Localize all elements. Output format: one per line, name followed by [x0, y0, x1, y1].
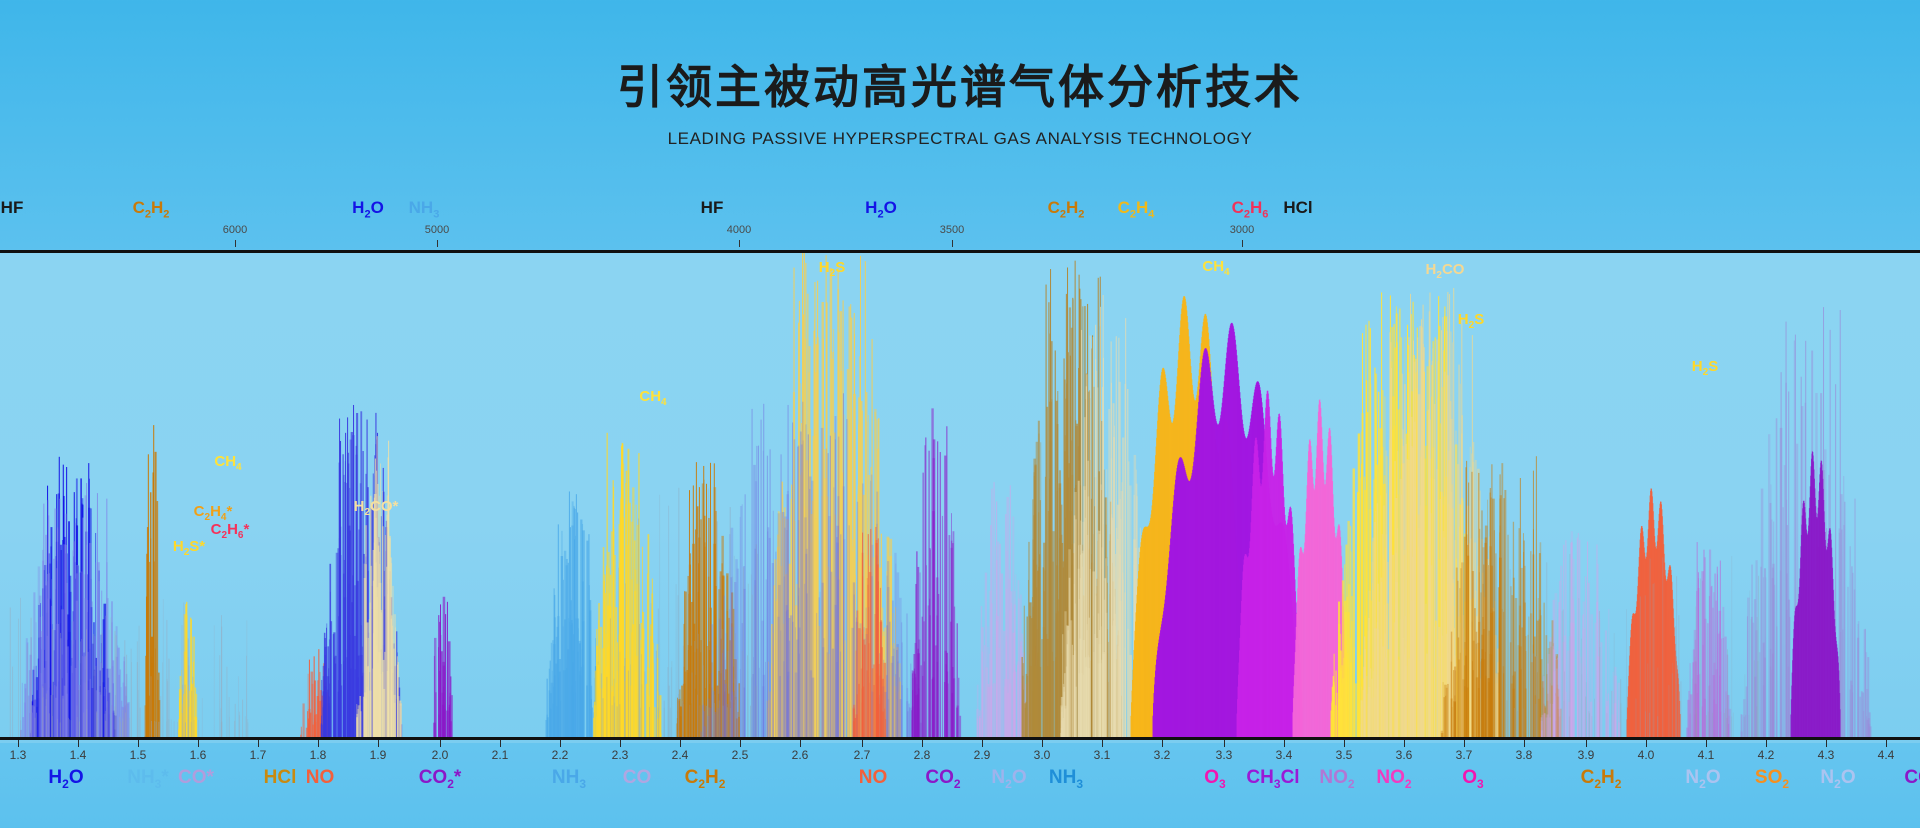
- page-title: 引领主被动高光谱气体分析技术: [0, 0, 1920, 113]
- top-gas-label: C2H6: [1232, 198, 1269, 220]
- bottom-tick-mark: [1586, 740, 1587, 747]
- top-tick-mark: [437, 240, 438, 247]
- bottom-tick-mark: [680, 740, 681, 747]
- top-gas-label: C2H4: [1118, 198, 1155, 220]
- bottom-tick-label: 2.8: [914, 748, 931, 762]
- bottom-tick-mark: [258, 740, 259, 747]
- page-subtitle: LEADING PASSIVE HYPERSPECTRAL GAS ANALYS…: [0, 113, 1920, 149]
- bottom-tick-mark: [800, 740, 801, 747]
- bottom-tick-label: 1.5: [130, 748, 147, 762]
- top-gas-label: HF: [1, 198, 24, 218]
- bottom-tick-mark: [922, 740, 923, 747]
- top-gas-label: C2H2: [133, 198, 170, 220]
- bottom-tick-label: 2.0: [432, 748, 449, 762]
- bottom-tick-label: 4.0: [1638, 748, 1655, 762]
- bottom-tick-mark: [862, 740, 863, 747]
- bottom-gas-label: NO: [306, 767, 335, 789]
- bottom-tick-label: 3.6: [1396, 748, 1413, 762]
- bottom-gas-label: CO*: [178, 767, 214, 789]
- bottom-tick-label: 1.9: [370, 748, 387, 762]
- top-tick-label: 6000: [223, 224, 247, 236]
- bottom-tick-mark: [500, 740, 501, 747]
- bottom-tick-label: 2.5: [732, 748, 749, 762]
- bottom-axis-band: 1.31.41.51.61.71.81.92.02.12.22.32.42.52…: [0, 737, 1920, 828]
- bottom-gas-label: O3: [1204, 767, 1225, 791]
- spectrum-plot: CH4C2H4*C2H6*H2S*H2CO*CH4H2SCH4H2COH2SH2…: [0, 250, 1920, 743]
- bottom-gas-label: C2H2: [1581, 767, 1622, 791]
- top-gas-label: HCl: [1283, 198, 1312, 218]
- bottom-tick-label: 3.0: [1034, 748, 1051, 762]
- spectral-atlas-page: 引领主被动高光谱气体分析技术 LEADING PASSIVE HYPERSPEC…: [0, 0, 1920, 828]
- top-tick-mark: [235, 240, 236, 247]
- page-header: 引领主被动高光谱气体分析技术 LEADING PASSIVE HYPERSPEC…: [0, 0, 1920, 200]
- bottom-tick-mark: [1224, 740, 1225, 747]
- top-axis-band: HFC2H2H2ONH3HFH2OC2H2C2H4C2H6HCl60005000…: [0, 198, 1920, 250]
- bottom-tick-mark: [1706, 740, 1707, 747]
- bottom-gas-label: CO: [623, 767, 652, 789]
- top-gas-label: C2H2: [1048, 198, 1085, 220]
- bottom-tick-label: 2.1: [492, 748, 509, 762]
- bottom-gas-label: N2O: [1820, 767, 1855, 791]
- bottom-gas-label: NH3*: [127, 767, 169, 791]
- bottom-tick-mark: [1162, 740, 1163, 747]
- bottom-tick-label: 1.7: [250, 748, 267, 762]
- bottom-tick-label: 1.8: [310, 748, 327, 762]
- bottom-tick-mark: [1766, 740, 1767, 747]
- bottom-gas-label: CH3Cl: [1246, 767, 1299, 791]
- bottom-tick-label: 4.2: [1758, 748, 1775, 762]
- bottom-tick-label: 3.4: [1276, 748, 1293, 762]
- top-tick-label: 4000: [727, 224, 751, 236]
- bottom-gas-label: N2O: [991, 767, 1026, 791]
- top-tick-mark: [739, 240, 740, 247]
- bottom-gas-label: C2H2: [685, 767, 726, 791]
- bottom-tick-mark: [560, 740, 561, 747]
- bottom-tick-label: 4.3: [1818, 748, 1835, 762]
- bottom-tick-mark: [138, 740, 139, 747]
- bottom-gas-label: NO: [859, 767, 888, 789]
- bottom-tick-mark: [1344, 740, 1345, 747]
- bottom-tick-mark: [620, 740, 621, 747]
- bottom-tick-label: 3.1: [1094, 748, 1111, 762]
- bottom-gas-label: HCl: [264, 767, 297, 789]
- bottom-gas-label: CO2*: [419, 767, 462, 791]
- bottom-tick-label: 3.7: [1456, 748, 1473, 762]
- bottom-tick-mark: [78, 740, 79, 747]
- bottom-tick-label: 1.3: [10, 748, 27, 762]
- bottom-tick-label: 2.7: [854, 748, 871, 762]
- bottom-tick-mark: [740, 740, 741, 747]
- bottom-tick-mark: [1524, 740, 1525, 747]
- bottom-tick-mark: [1464, 740, 1465, 747]
- top-tick-label: 3000: [1230, 224, 1254, 236]
- bottom-tick-mark: [1826, 740, 1827, 747]
- bottom-tick-label: 2.9: [974, 748, 991, 762]
- spectrum-canvas: [0, 253, 1920, 740]
- bottom-tick-mark: [198, 740, 199, 747]
- bottom-tick-label: 3.3: [1216, 748, 1233, 762]
- bottom-gas-label: CO2: [1904, 767, 1920, 791]
- bottom-tick-label: 1.6: [190, 748, 207, 762]
- bottom-gas-label: NH3: [552, 767, 586, 791]
- bottom-tick-mark: [440, 740, 441, 747]
- bottom-tick-label: 3.9: [1578, 748, 1595, 762]
- bottom-tick-mark: [1102, 740, 1103, 747]
- bottom-gas-label: NH3: [1049, 767, 1083, 791]
- bottom-tick-label: 2.3: [612, 748, 629, 762]
- top-gas-label: H2O: [352, 198, 384, 220]
- top-gas-label: HF: [701, 198, 724, 218]
- bottom-gas-label: NO2: [1319, 767, 1354, 791]
- top-tick-label: 5000: [425, 224, 449, 236]
- bottom-gas-label: N2O: [1685, 767, 1720, 791]
- bottom-tick-mark: [982, 740, 983, 747]
- top-tick-label: 3500: [940, 224, 964, 236]
- bottom-tick-label: 3.8: [1516, 748, 1533, 762]
- bottom-tick-mark: [1646, 740, 1647, 747]
- bottom-tick-label: 4.1: [1698, 748, 1715, 762]
- top-gas-label: NH3: [409, 198, 440, 220]
- bottom-tick-label: 2.2: [552, 748, 569, 762]
- bottom-gas-label: O3: [1462, 767, 1483, 791]
- top-tick-mark: [1242, 240, 1243, 247]
- bottom-tick-label: 1.4: [70, 748, 87, 762]
- bottom-tick-mark: [18, 740, 19, 747]
- bottom-tick-mark: [1886, 740, 1887, 747]
- bottom-tick-mark: [318, 740, 319, 747]
- bottom-tick-label: 4.4: [1878, 748, 1895, 762]
- top-gas-label: H2O: [865, 198, 897, 220]
- bottom-tick-mark: [1042, 740, 1043, 747]
- bottom-tick-mark: [1404, 740, 1405, 747]
- axis-baseline: [0, 737, 1920, 740]
- top-tick-mark: [952, 240, 953, 247]
- bottom-gas-label: NO2: [1376, 767, 1411, 791]
- bottom-gas-label: SO2: [1755, 767, 1789, 791]
- bottom-gas-label: CO2: [925, 767, 960, 791]
- bottom-tick-label: 2.4: [672, 748, 689, 762]
- bottom-tick-label: 3.5: [1336, 748, 1353, 762]
- bottom-tick-mark: [378, 740, 379, 747]
- bottom-tick-mark: [1284, 740, 1285, 747]
- bottom-tick-label: 2.6: [792, 748, 809, 762]
- bottom-tick-label: 3.2: [1154, 748, 1171, 762]
- bottom-gas-label: H2O: [48, 767, 83, 791]
